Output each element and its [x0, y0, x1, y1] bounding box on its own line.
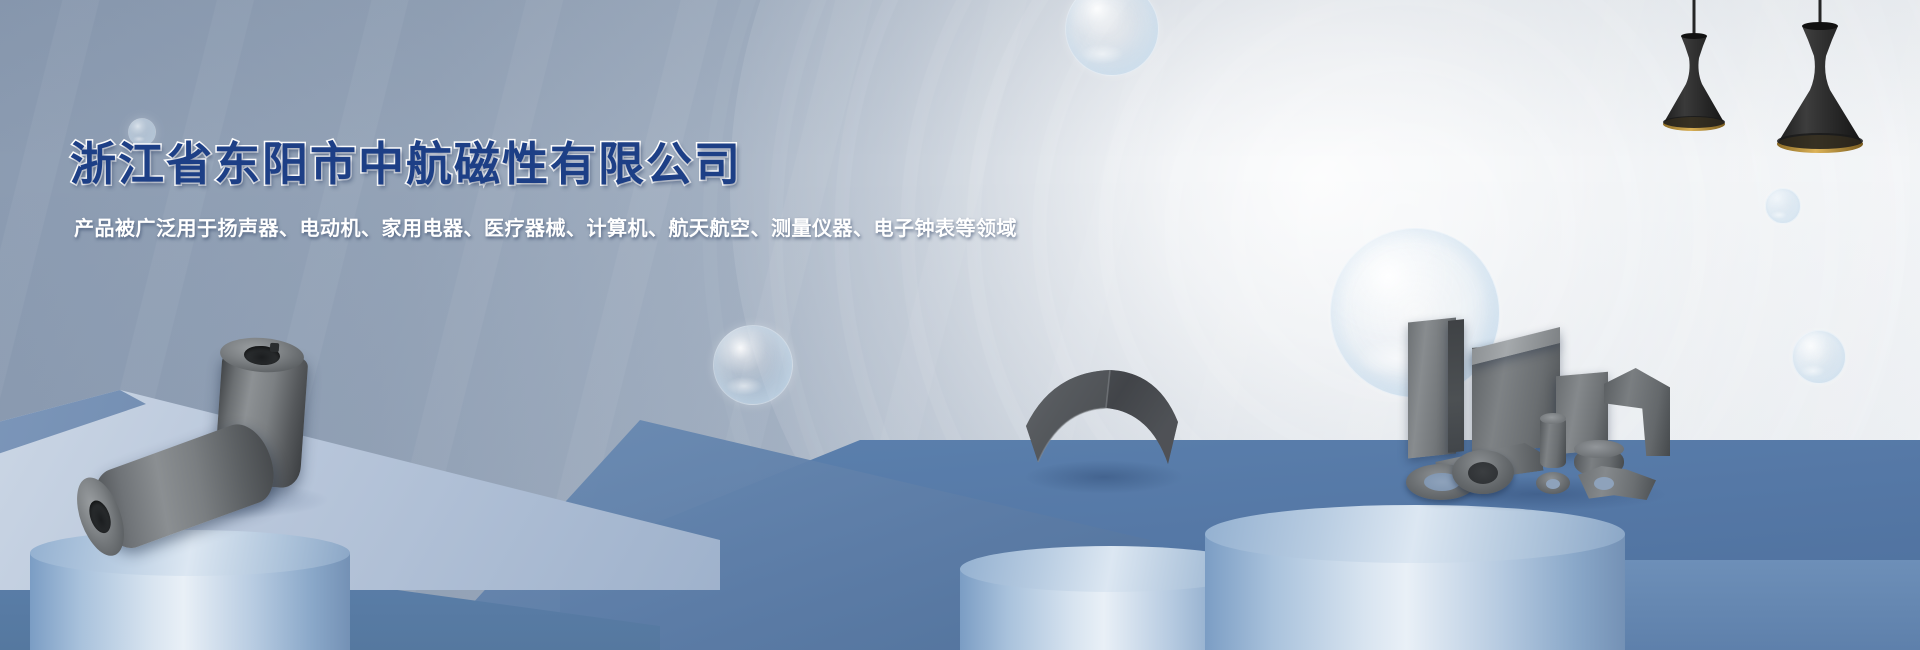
lamp-cord-large — [1819, 0, 1822, 24]
pedestal-left — [30, 530, 350, 650]
tube-upright-keyway — [270, 343, 280, 353]
block-magnet-tall-left-face — [1448, 319, 1464, 453]
pedestal-left-top — [30, 530, 350, 576]
pedestal-right — [1205, 505, 1625, 650]
hero-banner: 浙江省东阳市中航磁性有限公司 产品被广泛用于扬声器、电动机、家用电器、医疗器械、… — [0, 0, 1920, 650]
ring-magnet-medium-hole — [1468, 462, 1498, 484]
bubble-right-small-icon — [1765, 188, 1801, 224]
company-headline: 浙江省东阳市中航磁性有限公司 — [70, 128, 1170, 194]
disc-magnet-top — [1574, 440, 1624, 458]
bracket-magnet — [1578, 466, 1656, 500]
lamp-cord-small — [1693, 0, 1696, 34]
bracket-magnet-hole — [1594, 477, 1614, 490]
product-magnet-assortment — [1408, 300, 1678, 500]
ring-magnet-small-hole — [1546, 479, 1560, 489]
bubble-right-icon — [1792, 330, 1846, 384]
arc-magnet-shadow — [1024, 460, 1184, 494]
arc-segment-magnet — [1018, 366, 1188, 478]
product-cylinder-tubes — [70, 320, 370, 510]
pedestal-right-top — [1205, 505, 1625, 563]
bubble-center-icon — [713, 325, 793, 405]
cylinder-magnet-small-top — [1540, 413, 1566, 424]
banner-text-block: 浙江省东阳市中航磁性有限公司 产品被广泛用于扬声器、电动机、家用电器、医疗器械、… — [70, 128, 1170, 241]
company-subline: 产品被广泛用于扬声器、电动机、家用电器、医疗器械、计算机、航天航空、测量仪器、电… — [74, 212, 1170, 241]
